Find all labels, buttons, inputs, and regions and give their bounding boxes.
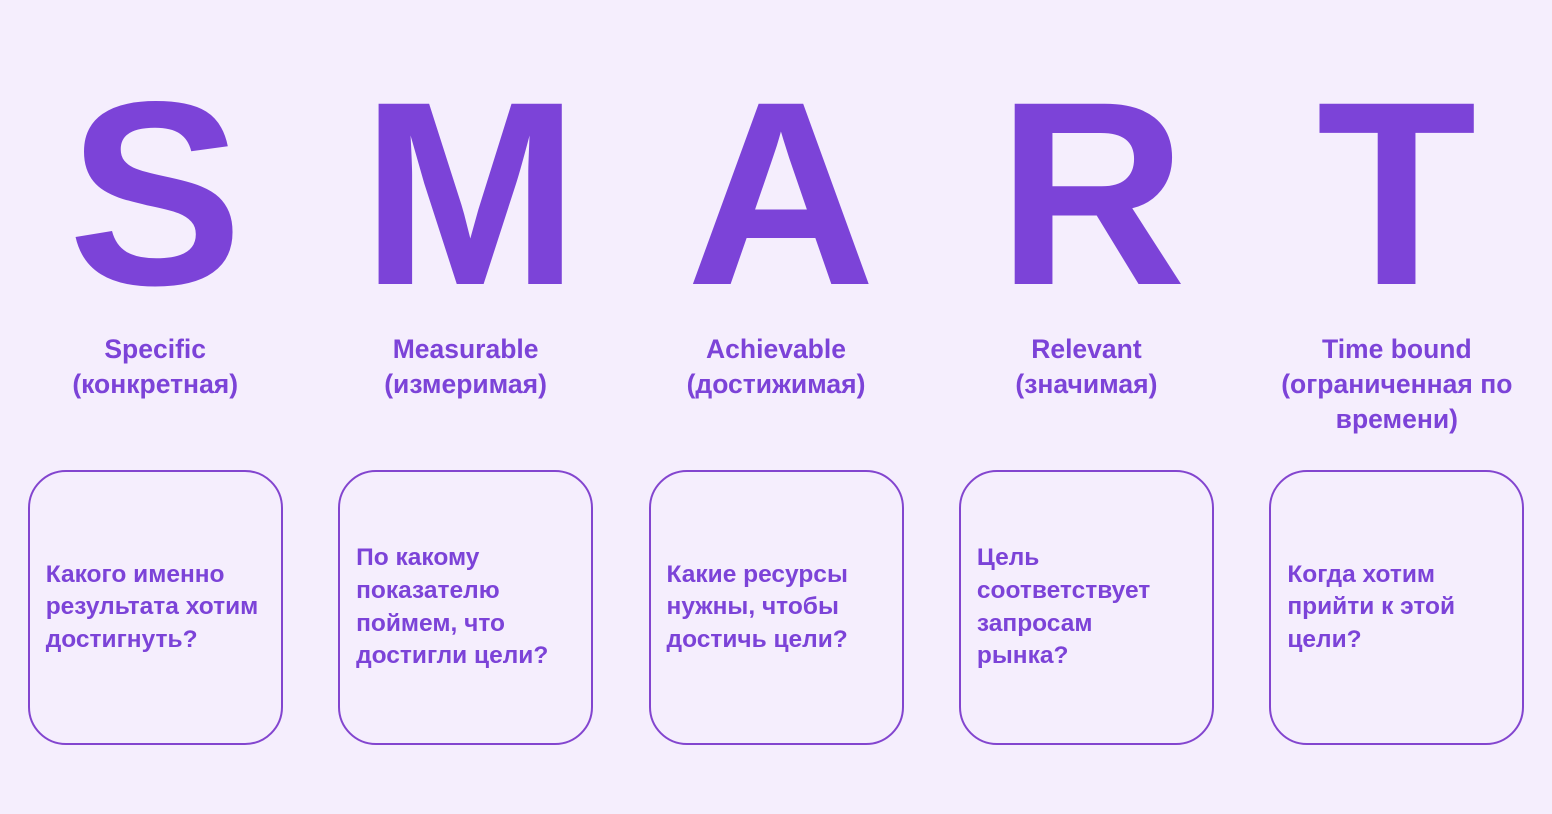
question-card-specific[interactable]: Какого именно результата хотим достигнут… xyxy=(28,470,283,745)
heading-time-bound-en: Time bound xyxy=(1322,332,1472,367)
heading-relevant: Relevant (значимая) xyxy=(931,332,1241,462)
smart-infographic: S M A R T Specific (конкретная) Measurab… xyxy=(0,0,1552,814)
heading-relevant-ru: (значимая) xyxy=(1015,367,1157,402)
letter-cell-achievable: A xyxy=(626,0,937,318)
card-cell-relevant: Цель соответствует запросам рынка? xyxy=(931,470,1241,746)
card-cell-time-bound: Когда хотим прийти к этой цели? xyxy=(1242,470,1552,746)
heading-achievable-ru: (достижимая) xyxy=(687,367,866,402)
card-cell-specific: Какого именно результата хотим достигнут… xyxy=(0,470,310,746)
question-card-relevant[interactable]: Цель соответствует запросам рынка? xyxy=(959,470,1214,745)
heading-achievable: Achievable (достижимая) xyxy=(621,332,931,462)
question-text-relevant: Цель соответствует запросам рынка? xyxy=(977,542,1196,672)
big-letter-m: M xyxy=(361,87,579,318)
letter-cell-relevant: R xyxy=(936,0,1247,318)
heading-relevant-en: Relevant xyxy=(1031,332,1141,367)
heading-time-bound-ru: (ограниченная по времени) xyxy=(1250,367,1544,437)
question-text-time-bound: Когда хотим прийти к этой цели? xyxy=(1287,559,1506,657)
question-text-specific: Какого именно результата хотим достигнут… xyxy=(46,559,265,657)
smart-cards-row: Какого именно результата хотим достигнут… xyxy=(0,470,1552,746)
question-card-time-bound[interactable]: Когда хотим прийти к этой цели? xyxy=(1269,470,1524,745)
heading-time-bound: Time bound (ограниченная по времени) xyxy=(1242,332,1552,462)
letter-cell-measurable: M xyxy=(315,0,626,318)
heading-specific: Specific (конкретная) xyxy=(0,332,310,462)
big-letter-a: A xyxy=(686,87,875,318)
question-text-measurable: По какому показателю поймем, что достигл… xyxy=(356,542,575,672)
question-text-achievable: Какие ресурсы нужны, чтобы достичь цели? xyxy=(667,559,886,657)
smart-letters-row: S M A R T xyxy=(0,0,1552,318)
smart-headings-row: Specific (конкретная) Measurable (измери… xyxy=(0,332,1552,462)
question-card-achievable[interactable]: Какие ресурсы нужны, чтобы достичь цели? xyxy=(649,470,904,745)
big-letter-r: R xyxy=(997,87,1186,318)
heading-specific-ru: (конкретная) xyxy=(72,367,238,402)
heading-measurable-en: Measurable xyxy=(393,332,539,367)
card-cell-measurable: По какому показателю поймем, что достигл… xyxy=(310,470,620,746)
letter-cell-time-bound: T xyxy=(1241,0,1552,318)
big-letter-t: T xyxy=(1317,87,1477,318)
heading-achievable-en: Achievable xyxy=(706,332,846,367)
heading-measurable: Measurable (измеримая) xyxy=(310,332,620,462)
card-cell-achievable: Какие ресурсы нужны, чтобы достичь цели? xyxy=(621,470,931,746)
big-letter-s: S xyxy=(68,87,243,318)
heading-specific-en: Specific xyxy=(104,332,206,367)
heading-measurable-ru: (измеримая) xyxy=(384,367,547,402)
letter-cell-specific: S xyxy=(0,0,311,318)
question-card-measurable[interactable]: По какому показателю поймем, что достигл… xyxy=(338,470,593,745)
